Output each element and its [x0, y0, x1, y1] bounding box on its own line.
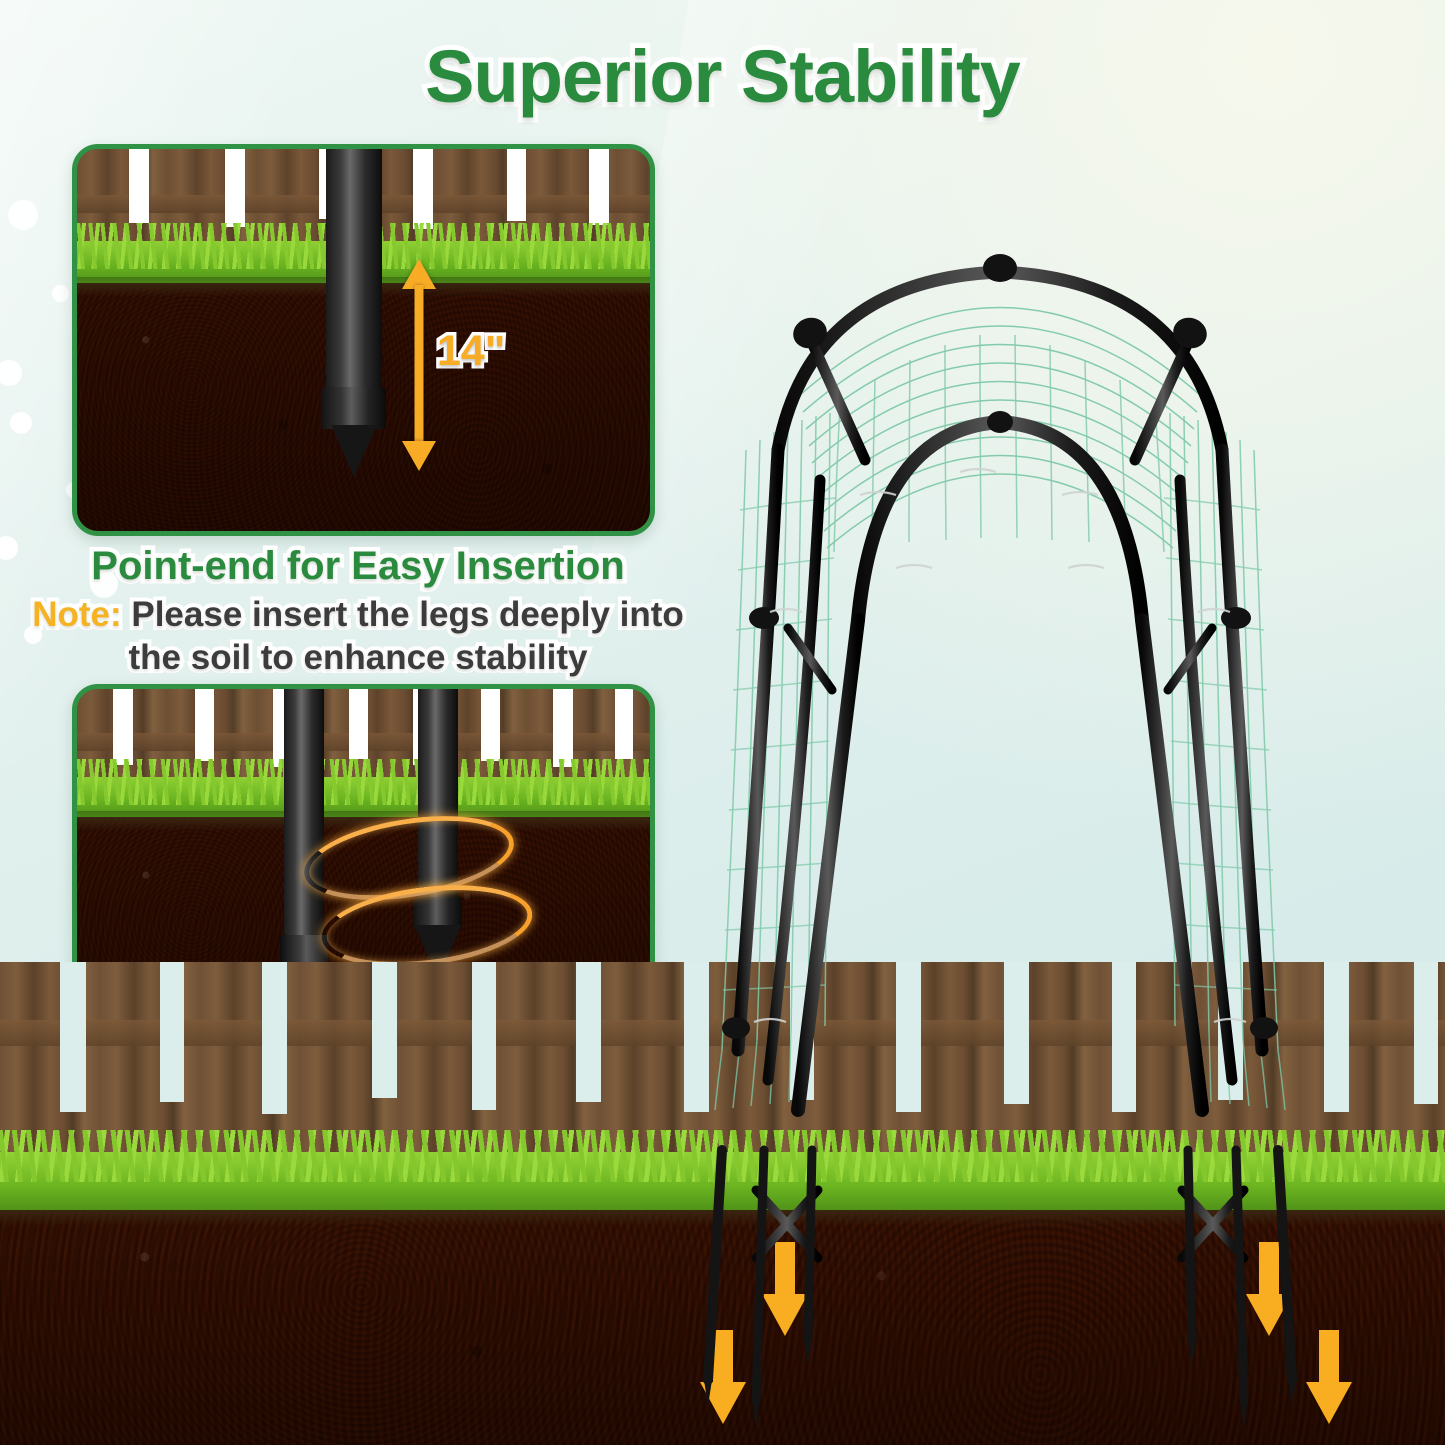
- panel1-note: Note: Please insert the legs deeply into…: [28, 594, 688, 679]
- panel1-scene: 14": [77, 149, 650, 531]
- net-clips: [754, 469, 1246, 1022]
- note-text: Please insert the legs deeply into the s…: [122, 595, 684, 677]
- point-end-tip: [331, 425, 377, 477]
- background-fence: [0, 962, 1445, 1158]
- background-grass: [0, 1152, 1445, 1214]
- depth-measure-arrow: [409, 259, 429, 471]
- inner-arch: [858, 422, 1142, 620]
- panel1-heading: Point-end for Easy Insertion: [38, 544, 678, 589]
- drill-rod: [418, 685, 458, 907]
- panel-point-end: 14": [72, 144, 655, 536]
- panel2-grass: [77, 777, 650, 819]
- page-title: Superior Stability: [0, 34, 1445, 119]
- note-prefix: Note:: [32, 595, 121, 634]
- depth-measure-label: 14": [437, 327, 505, 376]
- frame-connectors: [722, 254, 1278, 1039]
- outer-arch: [778, 272, 1222, 450]
- hole-rod: [284, 685, 324, 935]
- leg-rear-left: [738, 450, 778, 1050]
- leg-tube-collar: [322, 387, 386, 429]
- leg-tube: [326, 145, 382, 403]
- leg-rear-right: [1222, 450, 1262, 1050]
- infographic-canvas: Superior Stability: [0, 0, 1445, 1445]
